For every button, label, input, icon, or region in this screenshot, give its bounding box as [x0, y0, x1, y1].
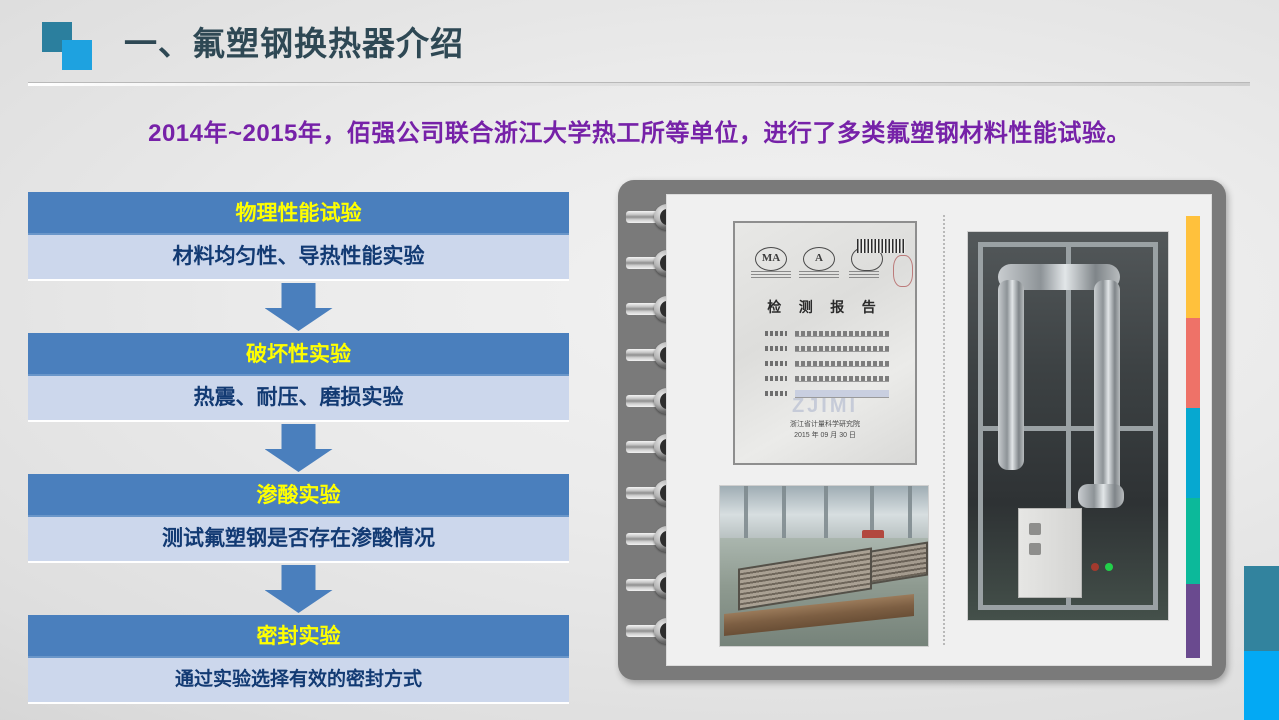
process-flow: 物理性能试验 材料均匀性、导热性能实验 破坏性实验 热震、耐压、磨损实验 渗酸实…: [28, 192, 569, 704]
notebook-panel: MA A 检 测 报 告 ZJIMI: [618, 180, 1226, 680]
flow-step-2-desc: 热震、耐压、磨损实验: [28, 376, 569, 422]
flow-step-2-title: 破坏性实验: [28, 333, 569, 376]
page-divider: [943, 215, 945, 645]
arrow-down-icon: [265, 283, 333, 331]
cal-mark-icon: A: [803, 247, 835, 271]
red-seal-icon: [893, 255, 913, 287]
cnas-mark-caption: [849, 271, 879, 278]
control-cabinet: [1018, 508, 1082, 598]
document-field-row: [765, 372, 889, 387]
flow-step-1: 物理性能试验 材料均匀性、导热性能实验: [28, 192, 569, 281]
cma-mark-icon: MA: [755, 247, 787, 271]
title-divider: [28, 82, 1250, 86]
workshop-column: [782, 486, 786, 544]
document-watermark: ZJIMI: [735, 395, 915, 418]
edge-tab-top: [1244, 566, 1279, 651]
insulated-duct-right: [1094, 280, 1120, 500]
document-field-row: [765, 342, 889, 357]
flow-step-4-title: 密封实验: [28, 615, 569, 658]
document-date: 2015 年 09 月 30 日: [735, 430, 915, 441]
lab-test-rig-photo: [967, 231, 1169, 621]
flow-step-2: 破坏性实验 热震、耐压、磨损实验: [28, 333, 569, 422]
insulated-duct-bottom: [1078, 484, 1124, 508]
flow-step-1-desc: 材料均匀性、导热性能实验: [28, 235, 569, 281]
flow-arrow-1: [28, 281, 569, 333]
cma-mark-caption: [751, 271, 791, 278]
slide-canvas: 一、氟塑钢换热器介绍 2014年~2015年，佰强公司联合浙江大学热工所等单位，…: [0, 0, 1279, 720]
notebook-page: MA A 检 测 报 告 ZJIMI: [666, 194, 1212, 666]
flow-arrow-2: [28, 422, 569, 474]
flow-step-3-title: 渗酸实验: [28, 474, 569, 517]
control-button-icon: [1029, 523, 1041, 535]
color-strip-segment-4: [1186, 498, 1200, 584]
color-strip-segment-2: [1186, 318, 1200, 408]
document-title: 检 测 报 告: [735, 297, 915, 317]
logo-square-light-icon: [62, 40, 92, 70]
barcode-icon: [857, 239, 905, 253]
workshop-column: [744, 486, 748, 544]
insulated-duct-left: [998, 280, 1024, 470]
color-strip-segment-1: [1186, 216, 1200, 318]
workshop-tube-bundle-photo: [719, 485, 929, 647]
led-green-icon: [1105, 563, 1113, 571]
control-button-icon: [1029, 543, 1041, 555]
lead-paragraph: 2014年~2015年，佰强公司联合浙江大学热工所等单位，进行了多类氟塑钢材料性…: [0, 113, 1279, 148]
document-field-row: [765, 357, 889, 372]
edge-tab-bottom: [1244, 651, 1279, 720]
flow-step-3: 渗酸实验 测试氟塑钢是否存在渗酸情况: [28, 474, 569, 563]
workshop-column: [908, 486, 912, 544]
flow-step-1-title: 物理性能试验: [28, 192, 569, 235]
color-strip-segment-5: [1186, 584, 1200, 658]
arrow-down-icon: [265, 565, 333, 613]
flow-step-3-desc: 测试氟塑钢是否存在渗酸情况: [28, 517, 569, 563]
document-field-row: [765, 327, 889, 342]
document-fields: [765, 327, 889, 402]
flow-arrow-3: [28, 563, 569, 615]
document-issuer: 浙江省计量科学研究院: [735, 419, 915, 430]
page-title: 一、氟塑钢换热器介绍: [124, 17, 464, 65]
color-strip-segment-3: [1186, 408, 1200, 498]
color-strip: [1186, 216, 1200, 658]
arrow-down-icon: [265, 424, 333, 472]
led-red-icon: [1091, 563, 1099, 571]
flow-step-4: 密封实验 通过实验选择有效的密封方式: [28, 615, 569, 704]
inspection-report-document: MA A 检 测 报 告 ZJIMI: [733, 221, 917, 465]
workshop-column: [824, 486, 828, 544]
document-footer: 浙江省计量科学研究院 2015 年 09 月 30 日: [735, 419, 915, 441]
flow-step-4-desc: 通过实验选择有效的密封方式: [28, 658, 569, 704]
cal-mark-caption: [799, 271, 839, 278]
